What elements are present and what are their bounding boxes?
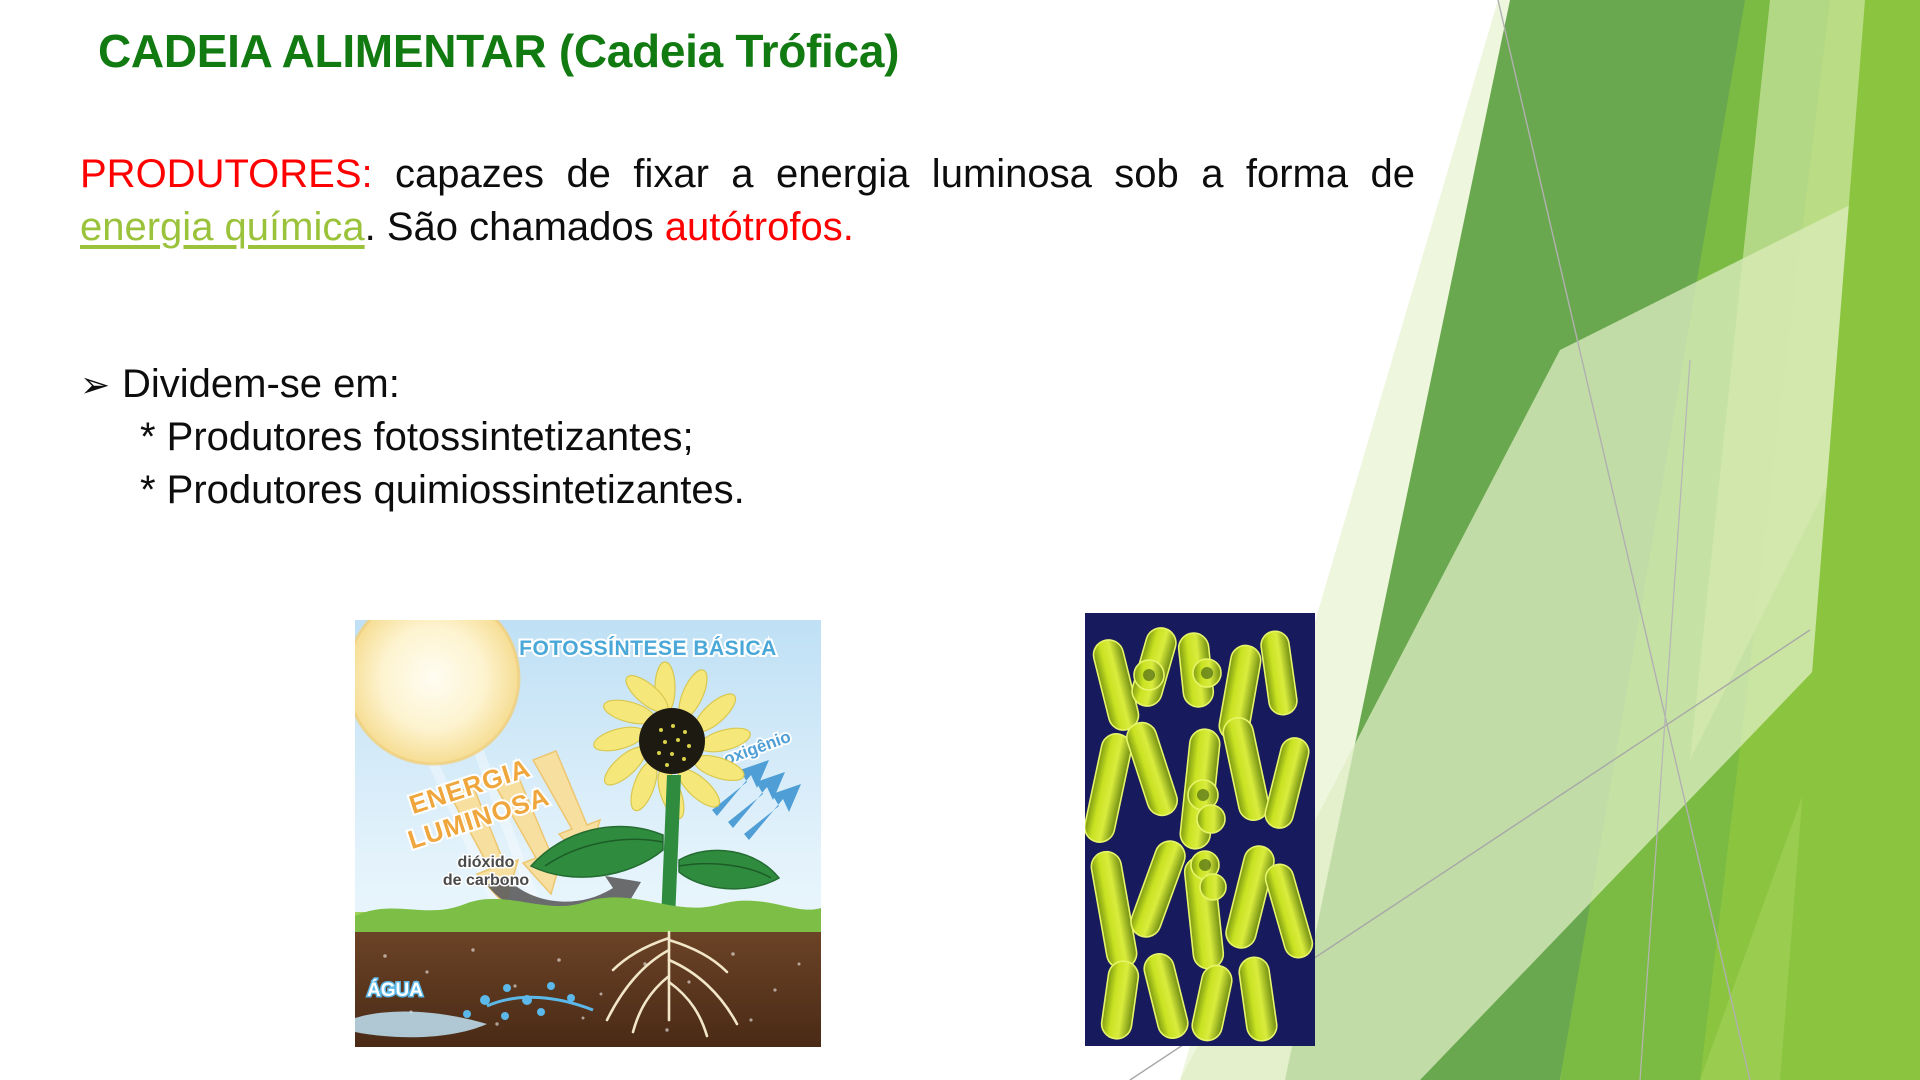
photosynthesis-diagram[interactable]: FOTOSSÍNTESE BÁSICA ENERGIA LUMINOSA oxi… [355, 620, 821, 1047]
paragraph-text-part-2: . São chamados [365, 205, 665, 249]
decor-polygon-pale-overlay [1690, 0, 1920, 760]
list-heading-line: ➢Dividem-se em: [80, 358, 1180, 411]
bacteria-micrograph[interactable] [1085, 613, 1315, 1046]
list-item: * Produtores fotossintetizantes; [80, 411, 1180, 464]
produtores-label: PRODUTORES: [80, 152, 373, 196]
list-heading-label: Dividem-se em: [122, 362, 400, 406]
water-label: ÁGUA [367, 979, 423, 1001]
paragraph-produtores: PRODUTORES: capazes de fixar a energia l… [80, 148, 1415, 254]
co2-label-line2: de carbono [443, 872, 529, 889]
decor-polygon-accent-right [1780, 0, 1920, 1080]
decor-polygon-light-green [1425, 470, 1920, 1080]
list-item: * Produtores quimiossintetizantes. [80, 464, 1180, 517]
diagram-title: FOTOSSÍNTESE BÁSICA [519, 637, 777, 660]
body-text-block: PRODUTORES: capazes de fixar a energia l… [80, 148, 1420, 254]
energia-quimica-link[interactable]: energia química [80, 205, 365, 249]
slide-canvas: CADEIA ALIMENTAR (Cadeia Trófica) PRODUT… [0, 0, 1920, 1080]
bullet-list-block: ➢Dividem-se em: * Produtores fotossintet… [80, 358, 1180, 516]
decor-polygon-mid-green [1560, 0, 1920, 1080]
decor-polygon-bright-green [1700, 0, 1920, 1080]
autotrofos-highlight: autótrofos. [665, 205, 854, 249]
arrow-bullet-icon: ➢ [80, 361, 122, 409]
co2-label-line1: dióxido [458, 854, 515, 871]
decor-hairline-lower [1640, 360, 1690, 1080]
page-title: CADEIA ALIMENTAR (Cadeia Trófica) [98, 24, 899, 78]
paragraph-text-part-1: capazes de fixar a energia luminosa sob … [373, 152, 1415, 196]
decor-hairline-upper [1498, 0, 1750, 1080]
sunflower-center [639, 708, 705, 774]
